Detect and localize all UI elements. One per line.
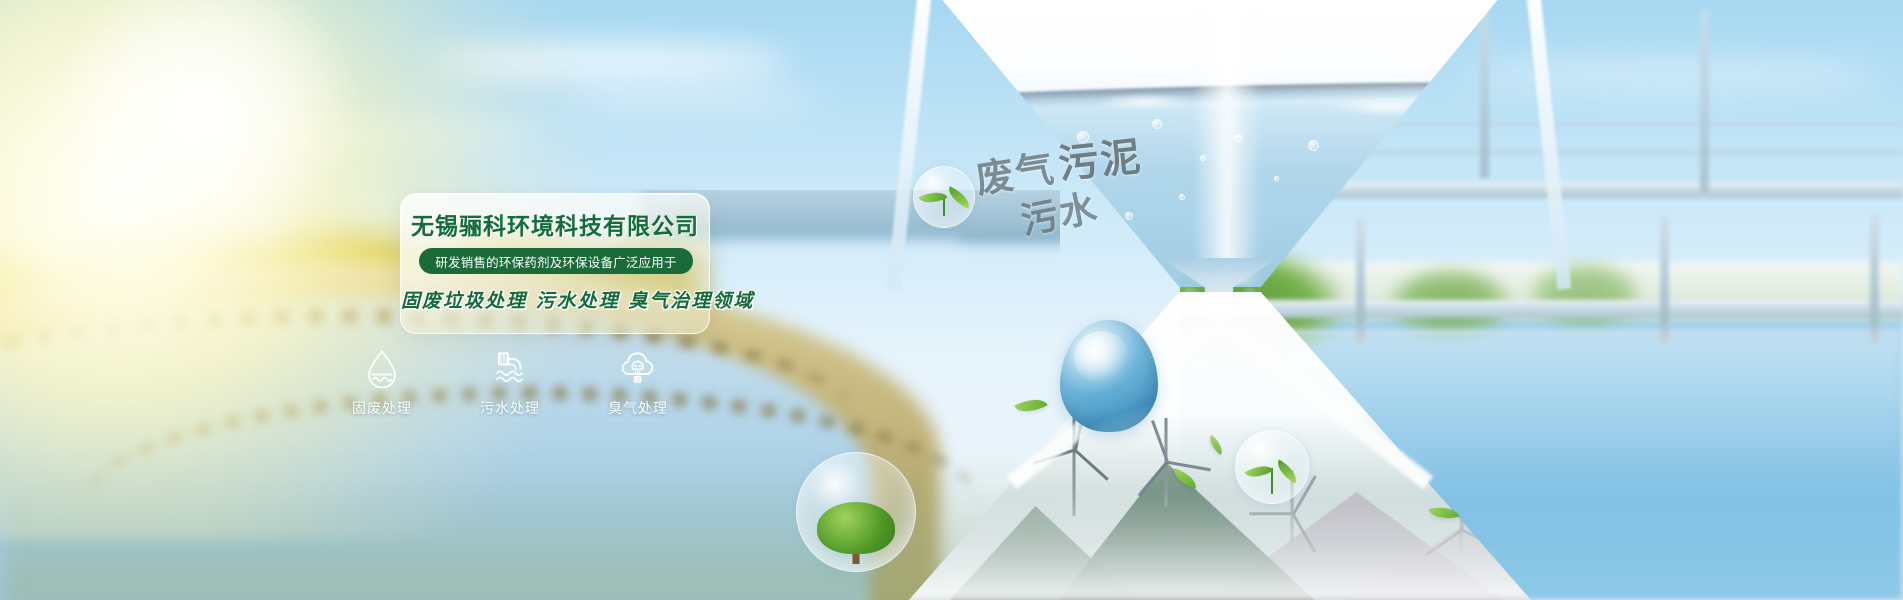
bubble — [1308, 140, 1319, 151]
service-scope-text: 固废垃圾处理 污水处理 臭气治理领域 — [401, 286, 709, 313]
bubble — [1274, 176, 1279, 181]
company-title: 无锡骊科环境科技有限公司 — [401, 207, 709, 241]
support-post — [1870, 214, 1879, 344]
sprout-stem — [1271, 468, 1273, 494]
bubble — [1179, 194, 1185, 200]
tagline-pill: 研发销售的环保药剂及环保设备广泛应用于 — [419, 248, 693, 274]
bubble — [989, 122, 998, 131]
sprout-bubble — [913, 166, 975, 228]
tree-bubble — [796, 452, 916, 572]
support-post — [1660, 216, 1669, 344]
hero-banner: 废气 污泥 污水 无锡骊科环境科技有限公司 研发销售的环保药剂及环保设备广泛应用… — [0, 0, 1903, 600]
hourglass-label-sludge: 污泥 — [1055, 124, 1145, 190]
glass-sheen — [1193, 0, 1261, 284]
feature-icon-row: 固废处理 污水处理 臭气处理 — [318, 348, 702, 430]
feature-odor[interactable]: 臭气处理 — [574, 348, 702, 430]
feature-sewage[interactable]: 污水处理 — [446, 348, 574, 430]
sun-core — [40, 0, 370, 260]
water-drop-icon — [361, 348, 403, 388]
sprout-leaf — [1244, 460, 1273, 484]
plant-bubble — [1235, 430, 1309, 504]
support-post — [1700, 10, 1709, 192]
feature-label: 污水处理 — [480, 398, 540, 418]
hourglass-top-chamber — [880, 0, 1560, 290]
glass-rim-right — [1526, 0, 1571, 290]
hourglass-graphic — [860, 0, 1580, 600]
odor-skull-cloud-icon — [617, 348, 659, 388]
tagline-text: 研发销售的环保药剂及环保设备广泛应用于 — [435, 252, 676, 271]
feature-solid-waste[interactable]: 固废处理 — [318, 348, 446, 430]
hero-text-card: 无锡骊科环境科技有限公司 研发销售的环保药剂及环保设备广泛应用于 固废垃圾处理 … — [400, 193, 710, 334]
bubble — [1125, 212, 1133, 220]
glass-rim-left — [887, 0, 932, 290]
tree-crown — [817, 502, 895, 554]
sprout-leaf — [1272, 460, 1301, 484]
feature-label: 臭气处理 — [608, 398, 668, 418]
sprout-leaf — [944, 186, 973, 208]
mountain-mist — [880, 492, 1560, 600]
sewage-outfall-icon — [489, 348, 531, 388]
bubble — [1152, 119, 1162, 129]
feature-label: 固废处理 — [352, 398, 412, 418]
